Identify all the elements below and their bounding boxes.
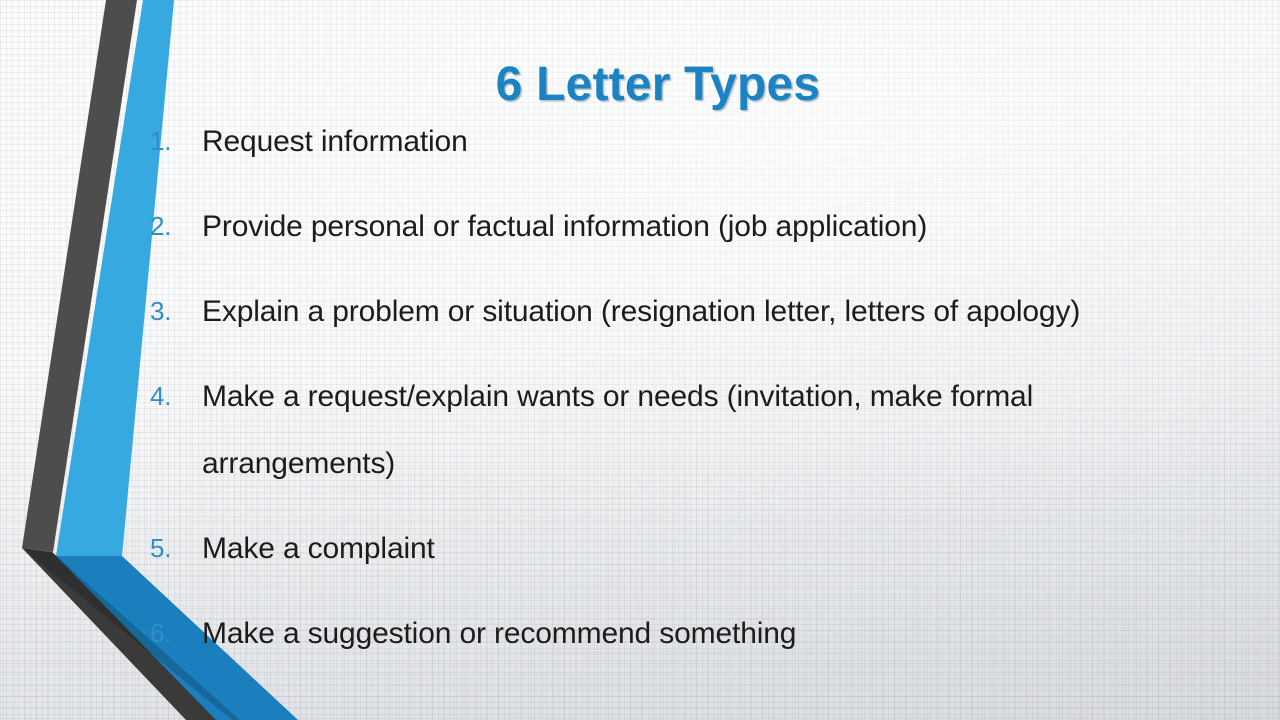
list-item: 6. Make a suggestion or recommend someth…: [150, 600, 1150, 667]
list-item: 1. Request information: [150, 108, 1150, 175]
list-item: 3. Explain a problem or situation (resig…: [150, 278, 1150, 345]
list-item-text: Provide personal or factual information …: [202, 193, 1150, 260]
list-item-text: Make a suggestion or recommend something: [202, 600, 1150, 667]
list-item-number: 3.: [150, 278, 190, 345]
slide-canvas: 6 Letter Types 1. Request information 2.…: [0, 0, 1280, 720]
list-item-text: Request information: [202, 108, 1150, 175]
list-item-number: 6.: [150, 600, 190, 667]
list-item: 2. Provide personal or factual informati…: [150, 193, 1150, 260]
list-item-number: 1.: [150, 108, 190, 175]
page-title: 6 Letter Types: [496, 56, 821, 114]
letter-types-list: 1. Request information 2. Provide person…: [150, 108, 1150, 685]
list-item-number: 4.: [150, 363, 190, 430]
list-item-number: 5.: [150, 515, 190, 582]
list-item-text: Make a complaint: [202, 515, 1150, 582]
list-item-text: Make a request/explain wants or needs (i…: [202, 363, 1150, 497]
list-item: 5. Make a complaint: [150, 515, 1150, 582]
list-item: 4. Make a request/explain wants or needs…: [150, 363, 1150, 497]
list-item-text: Explain a problem or situation (resignat…: [202, 278, 1150, 345]
list-item-number: 2.: [150, 193, 190, 260]
